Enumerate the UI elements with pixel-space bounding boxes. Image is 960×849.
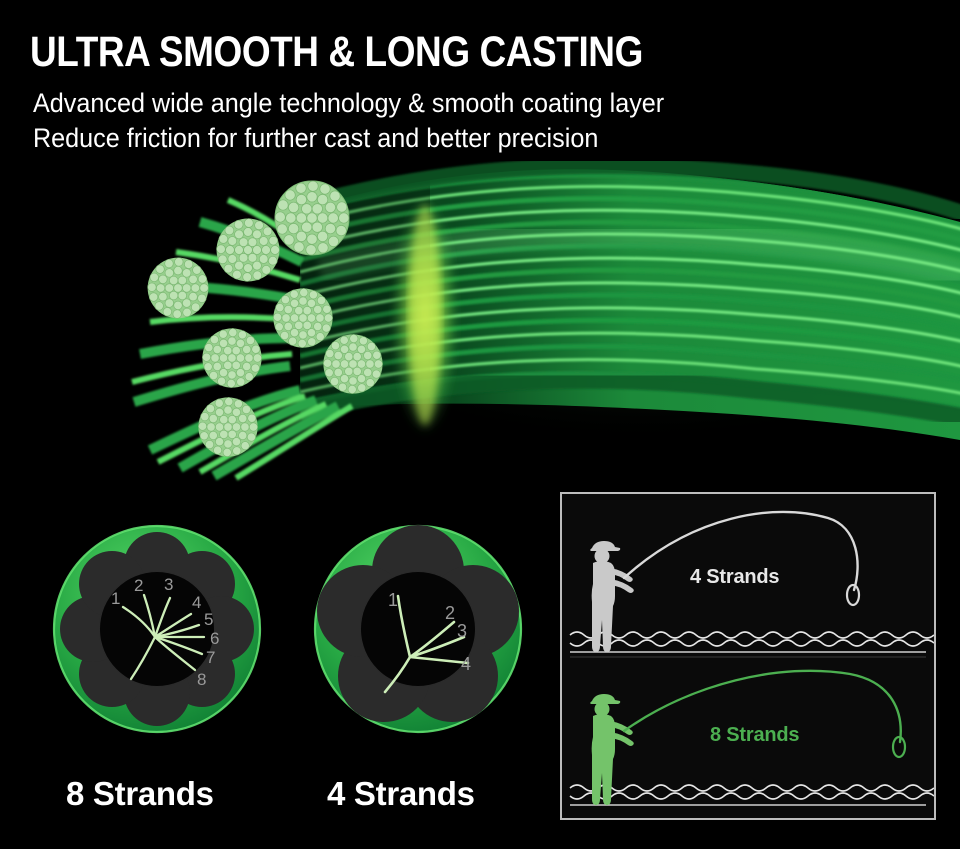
- strand-label-1: 1: [388, 590, 398, 610]
- cross-section-8-strand: 1 2 3 4 5 6 7 8: [52, 524, 262, 734]
- promo-banner: ULTRA SMOOTH & LONG CASTING Advanced wid…: [0, 0, 960, 849]
- strand-label-7: 7: [206, 648, 215, 667]
- strand-label-6: 6: [210, 629, 219, 648]
- subtitle-line-2: Reduce friction for further cast and bet…: [33, 121, 664, 156]
- cross-section-4-strand: 1 2 3 4: [313, 524, 523, 734]
- caption-8-strands: 8 Strands: [66, 775, 214, 813]
- strand-label-8: 8: [197, 670, 206, 689]
- strand-label-3: 3: [457, 621, 467, 641]
- cross-section-4-svg: 1 2 3 4: [313, 524, 523, 734]
- strand-label-4: 4: [192, 593, 201, 612]
- cast-comparison-panel: 4 Strands 8 Strands: [560, 492, 936, 820]
- strand-label-5: 5: [204, 610, 213, 629]
- strand-label-2: 2: [445, 603, 455, 623]
- page-title: ULTRA SMOOTH & LONG CASTING: [30, 29, 643, 75]
- fiber-bundle-svg: [0, 150, 960, 500]
- subtitle-block: Advanced wide angle technology & smooth …: [33, 86, 664, 156]
- cast-label-8-strands: 8 Strands: [710, 724, 799, 747]
- subtitle-line-1: Advanced wide angle technology & smooth …: [33, 86, 664, 121]
- caption-4-strands: 4 Strands: [327, 775, 475, 813]
- cross-section-8-svg: 1 2 3 4 5 6 7 8: [52, 524, 262, 734]
- braided-fiber-illustration: [0, 150, 960, 500]
- cast-label-4-strands: 4 Strands: [690, 566, 779, 589]
- cast-comparison-svg: [562, 494, 934, 818]
- strand-label-1: 1: [111, 589, 120, 608]
- strand-label-3: 3: [164, 575, 173, 594]
- strand-label-4: 4: [461, 654, 471, 674]
- strand-label-2: 2: [134, 576, 143, 595]
